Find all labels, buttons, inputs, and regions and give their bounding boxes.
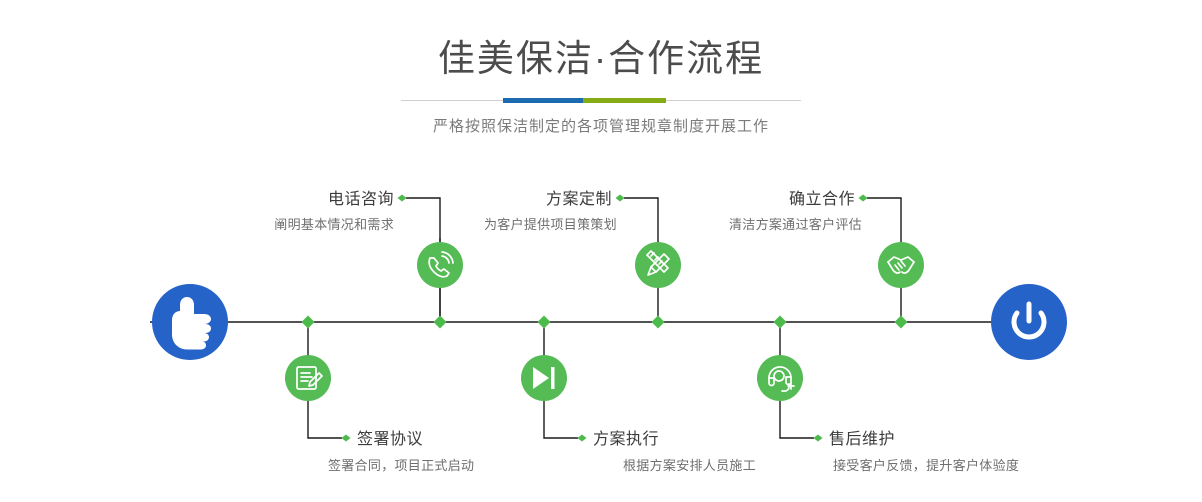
step-label-bottom-3: 售后维护 接受客户反馈，提升客户体验度 [829,430,1019,473]
step-node-top-3[interactable] [878,242,924,288]
step-desc: 清洁方案通过客户评估 [729,217,862,232]
diamond-marker [302,316,315,329]
end-node[interactable] [991,284,1067,360]
step-label-bottom-2: 方案执行 根据方案安排人员施工 [593,430,756,473]
step-node-bottom-2[interactable] [521,355,567,401]
diamond-marker [538,316,551,329]
step-label-top-1: 电话咨询 阐明基本情况和需求 [274,190,394,232]
step-title: 方案执行 [593,430,659,448]
step-title: 售后维护 [829,430,895,448]
step-node-bottom-3[interactable] [757,355,803,401]
step-desc: 签署合同，项目正式启动 [328,458,474,473]
page-subtitle: 严格按照保洁制定的各项管理规章制度开展工作 [0,106,1202,138]
step-title: 电话咨询 [328,190,394,208]
diamond-label-marker [398,195,407,202]
step-label-bottom-1: 签署协议 签署合同，项目正式启动 [328,430,474,473]
step-label-top-3: 确立合作 清洁方案通过客户评估 [729,190,862,232]
diamond-label-marker [859,195,868,202]
diamond-marker [652,316,665,329]
step-label-top-2: 方案定制 为客户提供项目策策划 [484,190,617,232]
diamond-marker [895,316,908,329]
step-title: 确立合作 [789,190,855,208]
step-title: 方案定制 [546,190,612,208]
diamond-label-marker [578,435,587,442]
diamond-label-marker [342,435,351,442]
step-desc: 接受客户反馈，提升客户体验度 [833,458,1019,473]
start-node[interactable] [152,284,228,360]
divider-segment-blue [503,98,583,103]
step-desc: 阐明基本情况和需求 [274,217,394,232]
divider-segment-green [583,98,666,103]
header: 佳美保洁·合作流程 严格按照保洁制定的各项管理规章制度开展工作 [0,0,1202,138]
step-node-top-2[interactable] [635,242,681,288]
diamond-marker [774,316,787,329]
step-desc: 为客户提供项目策策划 [484,217,617,232]
diamond-label-marker [814,435,823,442]
step-node-bottom-1[interactable] [285,355,331,401]
page-title: 佳美保洁·合作流程 [0,0,1202,84]
step-node-circle [757,355,803,401]
step-node-top-1[interactable] [417,242,463,288]
process-flow: 电话咨询 阐明基本情况和需求 方案定制 为客户提供项目策策划 确立合作 清洁方案… [0,150,1202,502]
step-title: 签署协议 [357,430,423,448]
step-desc: 根据方案安排人员施工 [623,458,756,473]
diamond-marker [434,316,447,329]
title-divider [401,96,801,106]
step-node-circle [878,242,924,288]
diamond-label-marker [616,195,625,202]
flow-diagram-page: 佳美保洁·合作流程 严格按照保洁制定的各项管理规章制度开展工作 [0,0,1202,502]
step-node-circle [417,242,463,288]
step-node-circle [285,355,331,401]
